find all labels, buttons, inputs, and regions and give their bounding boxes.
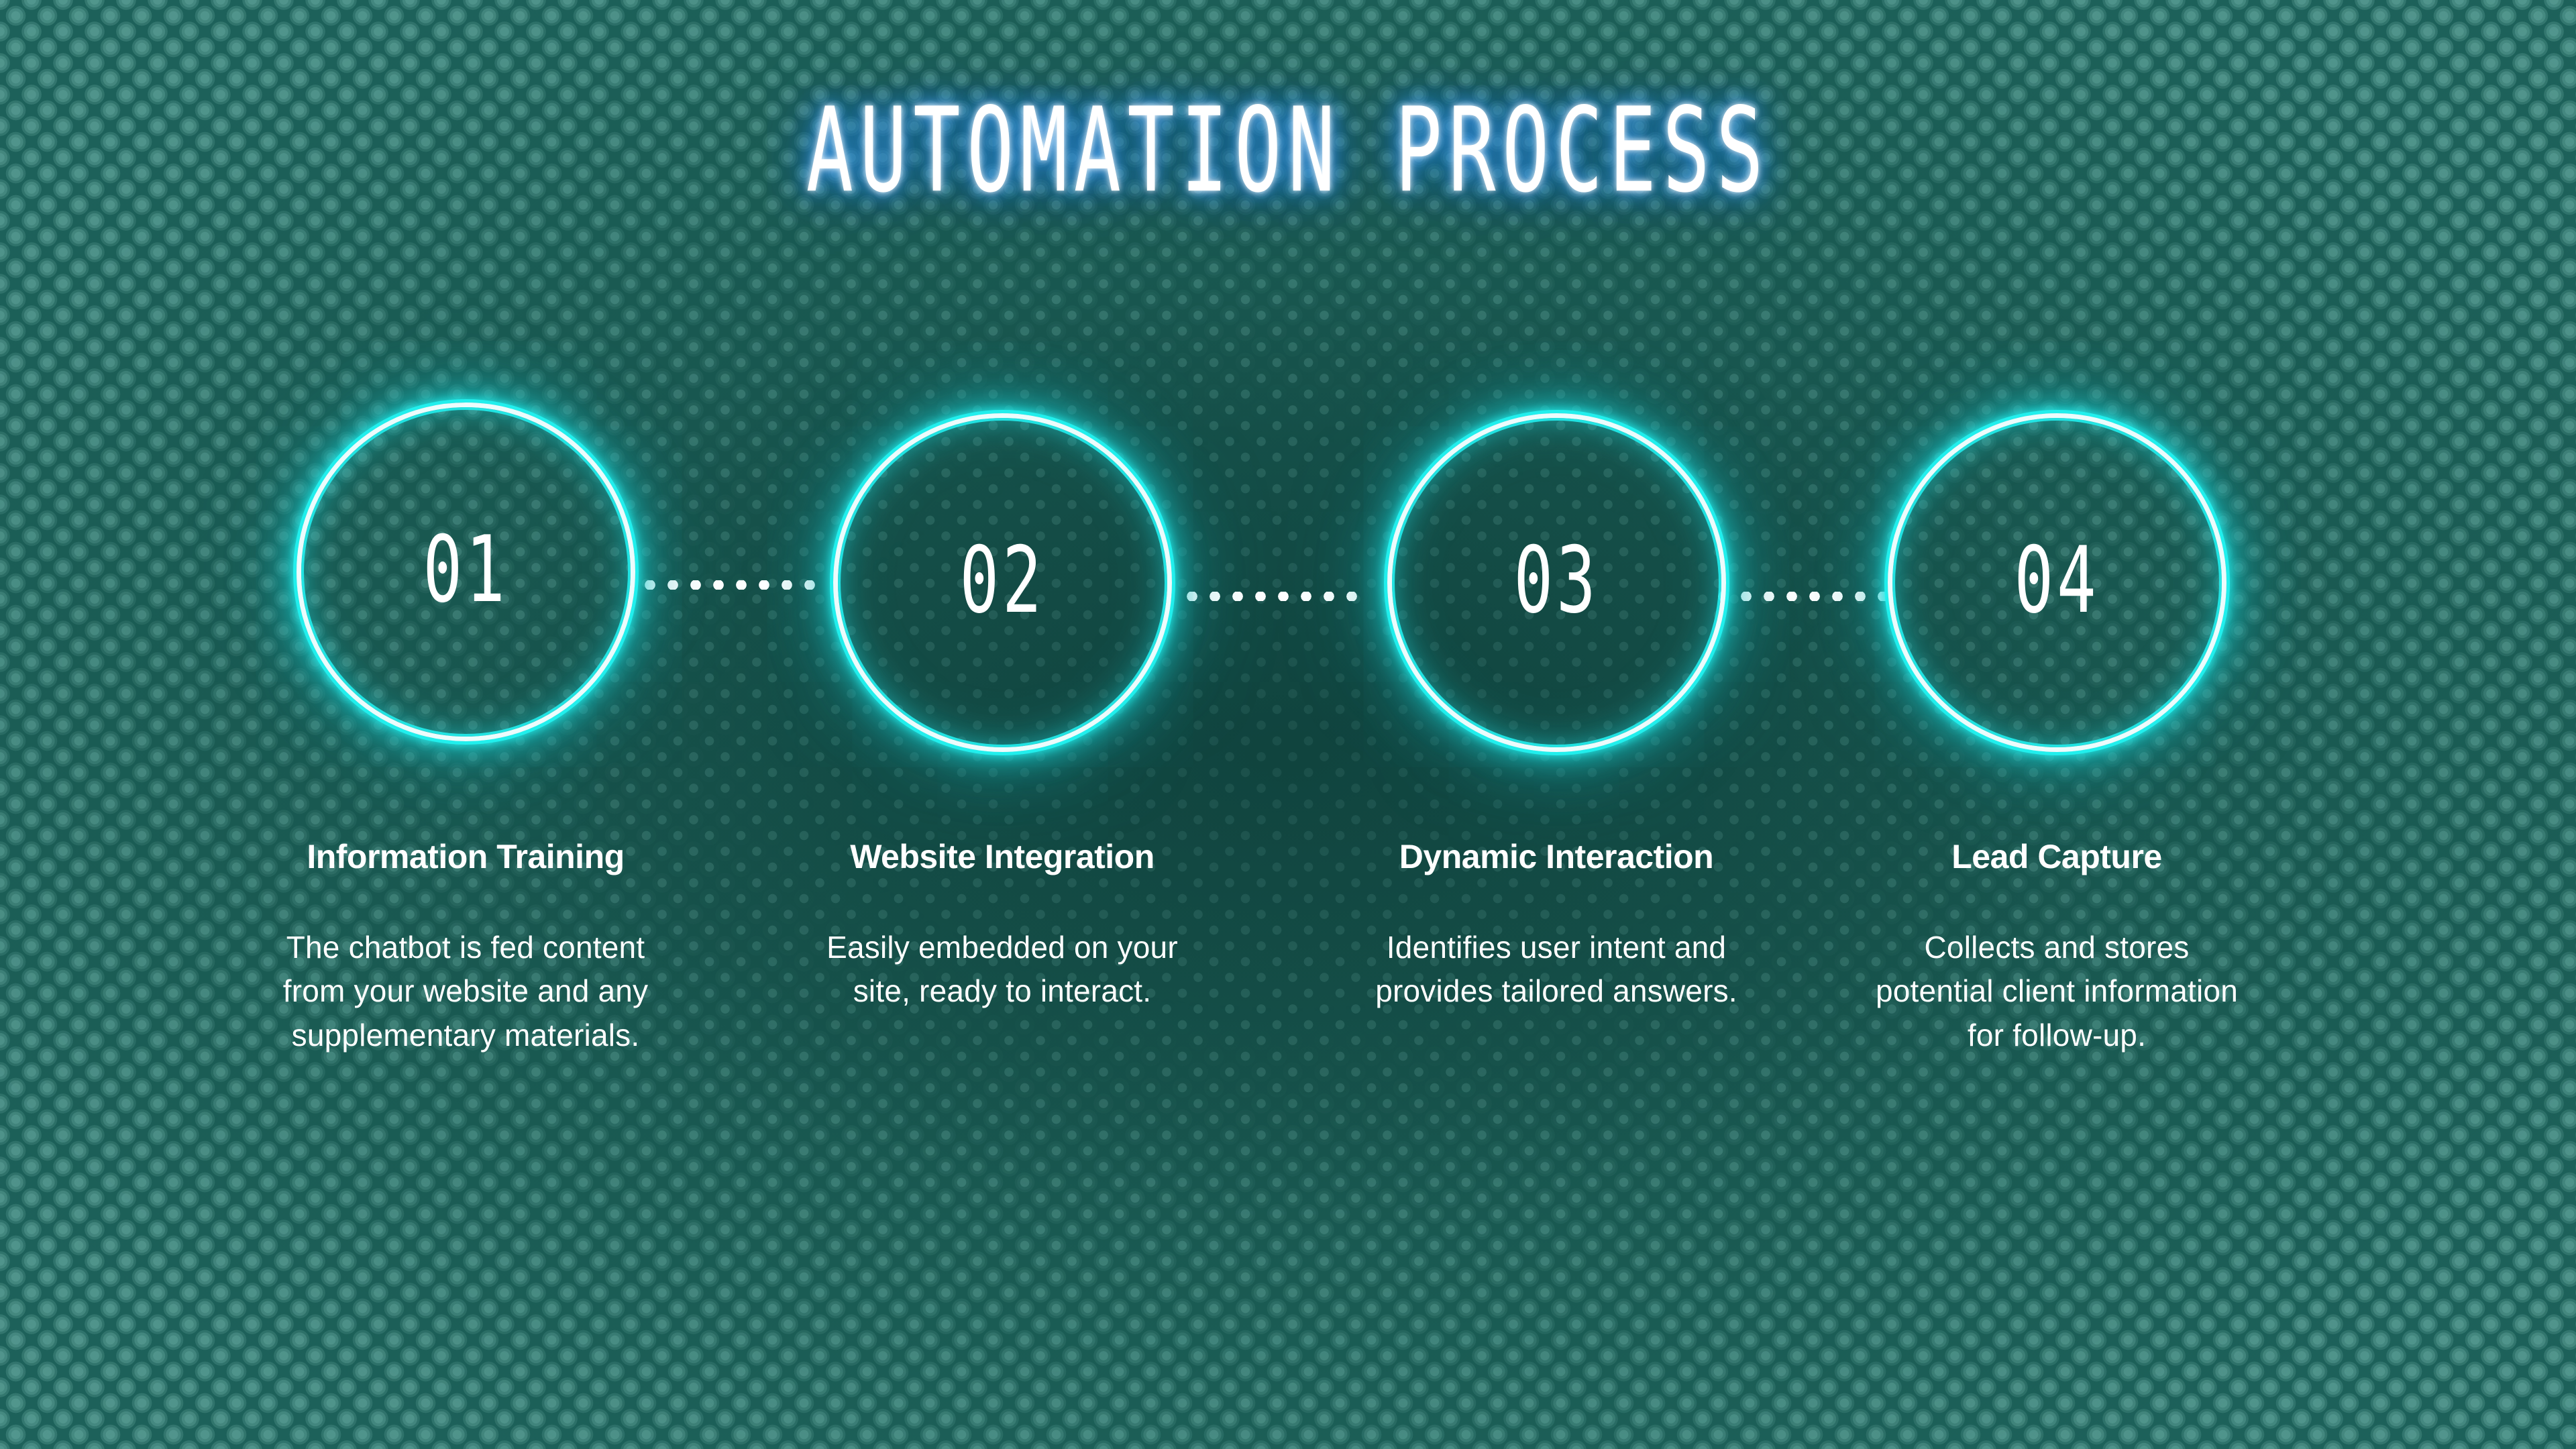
step-ring-holder: 01 <box>231 376 700 778</box>
step-heading: Lead Capture <box>1822 839 2292 875</box>
page-title-container: AUTOMATION PROCESS <box>0 101 2576 201</box>
step-number: 02 <box>814 535 1190 627</box>
process-step-2[interactable]: 02 Website Integration Easily embedded o… <box>767 386 1237 789</box>
step-number: 04 <box>1869 535 2245 627</box>
step-ring-holder: 02 <box>767 386 1237 789</box>
process-step-4[interactable]: 04 Lead Capture Collects and stores pote… <box>1822 386 2292 789</box>
step-heading: Information Training <box>231 839 700 875</box>
infographic-canvas: AUTOMATION PROCESS 01 Information Traini… <box>0 0 2576 1449</box>
step-body: Collects and stores potential client inf… <box>1862 926 2251 1057</box>
step-number: 01 <box>278 524 653 616</box>
page-title: AUTOMATION PROCESS <box>806 93 1770 209</box>
process-step-1[interactable]: 01 Information Training The chatbot is f… <box>231 376 700 778</box>
step-heading: Website Integration <box>767 839 1237 875</box>
step-ring-holder: 03 <box>1322 386 1791 789</box>
step-body: The chatbot is fed content from your web… <box>271 926 660 1057</box>
step-ring-holder: 04 <box>1822 386 2292 789</box>
process-step-3[interactable]: 03 Dynamic Interaction Identifies user i… <box>1322 386 1791 789</box>
step-body: Easily embedded on your site, ready to i… <box>808 926 1197 1014</box>
step-number: 03 <box>1368 535 1744 627</box>
step-heading: Dynamic Interaction <box>1322 839 1791 875</box>
step-body: Identifies user intent and provides tail… <box>1362 926 1751 1014</box>
